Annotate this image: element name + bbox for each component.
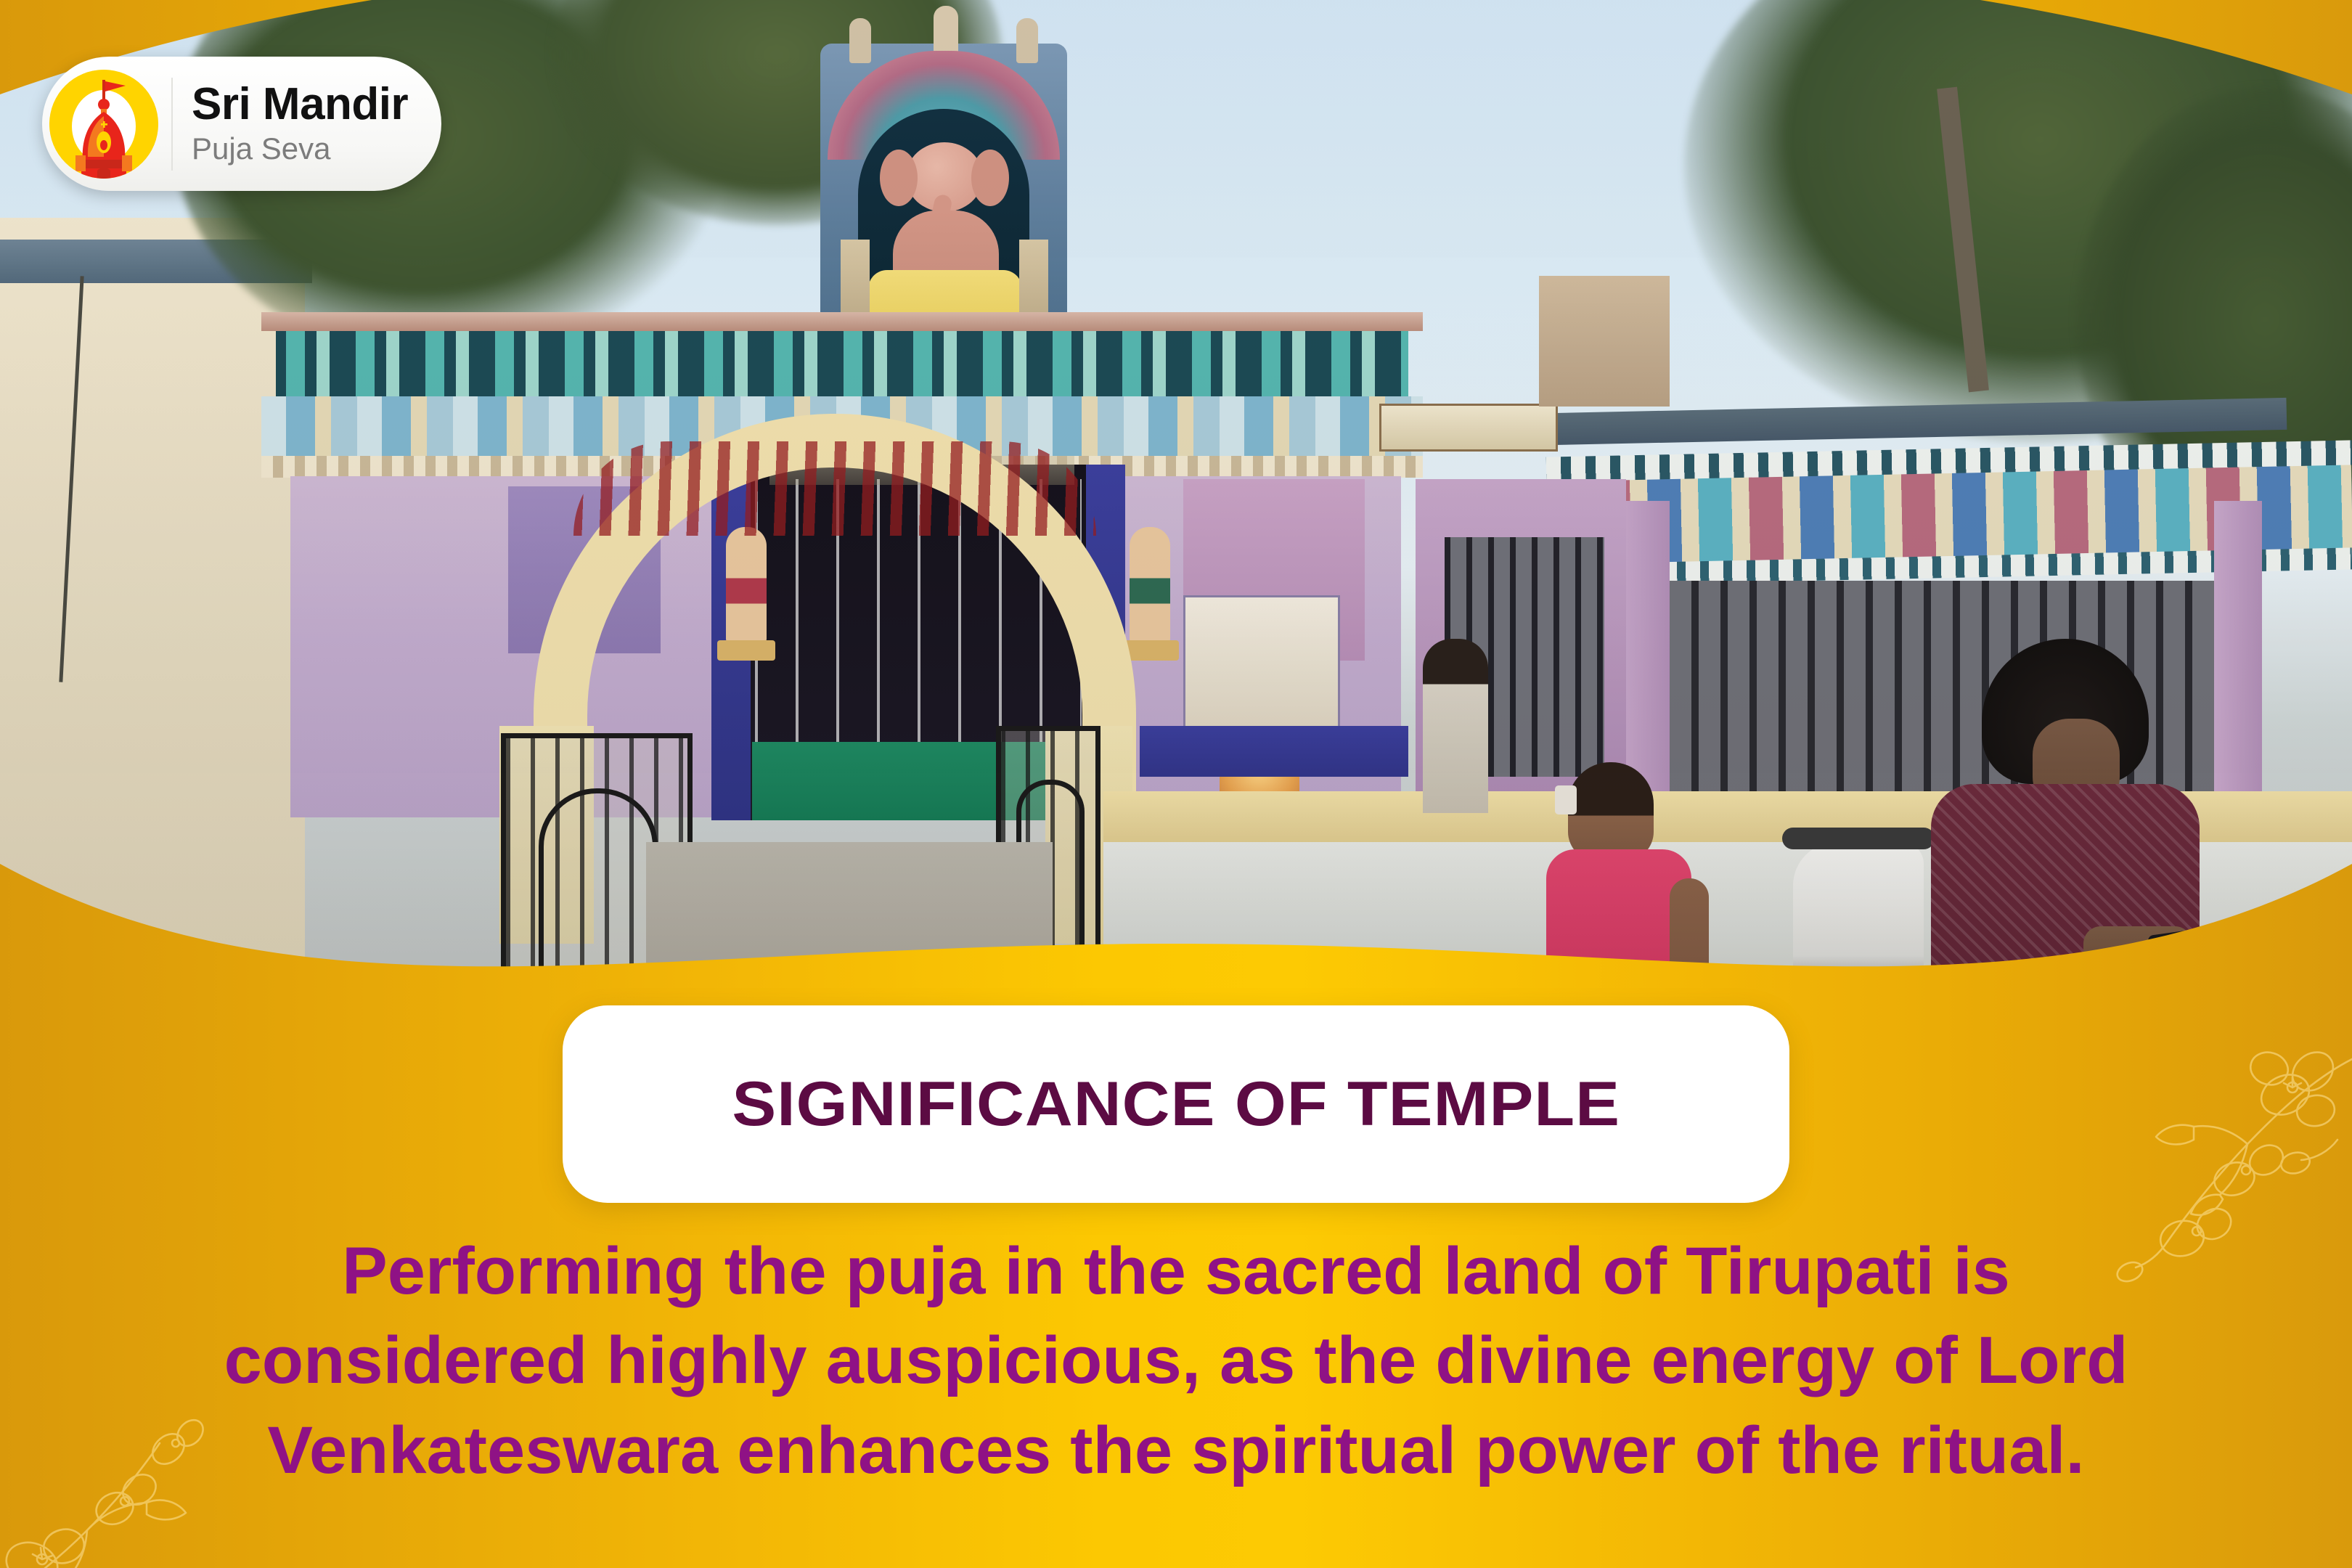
body-line-1: Performing the puja in the sacred land o…: [88, 1227, 2265, 1316]
brand-title: Sri Mandir: [192, 81, 408, 127]
heading-card: SIGNIFICANCE OF TEMPLE: [563, 1005, 1789, 1203]
poster-canvas: Sri Mandir Puja Seva SIGNIFICANCE OF TEM…: [0, 0, 2352, 1568]
body-line-2: considered highly auspicious, as the div…: [88, 1316, 2265, 1405]
body-description: Performing the puja in the sacred land o…: [0, 1227, 2352, 1495]
brand-text: Sri Mandir Puja Seva: [192, 81, 408, 167]
brand-badge[interactable]: Sri Mandir Puja Seva: [42, 57, 441, 191]
badge-divider: [171, 78, 173, 171]
brand-subtitle: Puja Seva: [192, 131, 408, 166]
heading-title: SIGNIFICANCE OF TEMPLE: [732, 1069, 1620, 1140]
temple-shikhara-icon: [49, 70, 158, 179]
body-line-3: Venkateswara enhances the spiritual powe…: [88, 1406, 2265, 1495]
